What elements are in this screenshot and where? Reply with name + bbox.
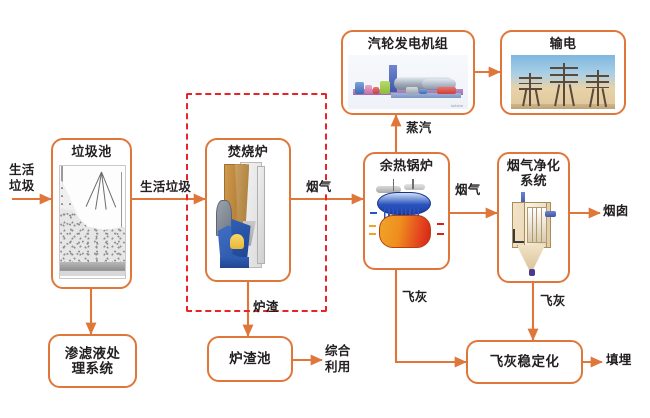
pylon-icon [550, 63, 577, 106]
node-gas-cleaning-system-label: 烟气净化 系统 [507, 159, 561, 188]
node-waste-pit[interactable]: 垃圾池 [51, 138, 132, 289]
label-flue-gas-2: 烟气 [455, 183, 481, 197]
node-leachate-treatment-label: 渗滤液处 理系统 [65, 346, 121, 376]
boiler-illustration [365, 174, 448, 268]
turbine-illustration: turbine [343, 52, 473, 113]
gas-cleaning-illustration [499, 188, 568, 281]
node-incinerator[interactable]: 焚烧炉 [205, 138, 291, 282]
node-flyash-stabilization-label: 飞灰稳定化 [490, 354, 560, 369]
node-gas-cleaning-system[interactable]: 烟气净化 系统 [497, 152, 570, 283]
pylon-icon [586, 70, 609, 106]
pylon-icon [519, 73, 542, 107]
label-stack: 烟囱 [603, 204, 629, 218]
label-inlet-msw: 生活 垃圾 [9, 163, 35, 194]
node-slag-pool-label: 炉渣池 [229, 351, 271, 366]
label-steam: 蒸汽 [406, 121, 432, 135]
transmission-illustration [502, 52, 624, 113]
node-incinerator-label: 焚烧炉 [228, 145, 268, 160]
label-flyash-1: 飞灰 [402, 290, 428, 304]
waste-pit-illustration [53, 160, 130, 287]
label-flyash-2: 飞灰 [540, 294, 566, 308]
grab-crane-icon [94, 172, 108, 210]
label-reuse: 综合 利用 [325, 344, 351, 375]
node-power-transmission-label: 输电 [550, 37, 577, 52]
node-steam-turbine-generator[interactable]: 汽轮发电机组 turbine [341, 30, 475, 115]
incinerator-illustration [207, 160, 289, 280]
label-landfill: 填埋 [606, 353, 632, 367]
node-power-transmission[interactable]: 输电 [500, 30, 626, 115]
label-msw-to-furnace: 生活垃圾 [139, 180, 192, 194]
wire-boiler-flyash-to-stabilization [396, 270, 466, 362]
node-flyash-stabilization[interactable]: 飞灰稳定化 [466, 340, 583, 384]
node-steam-turbine-generator-label: 汽轮发电机组 [368, 37, 448, 52]
process-flow-diagram: 垃圾池 渗滤液处 理系统 焚烧炉 [0, 0, 650, 418]
node-waste-heat-boiler-label: 余热锅炉 [380, 159, 434, 174]
node-leachate-treatment[interactable]: 渗滤液处 理系统 [48, 334, 137, 388]
label-flue-gas-1: 烟气 [305, 180, 333, 194]
label-slag: 炉渣 [253, 300, 279, 314]
node-waste-heat-boiler[interactable]: 余热锅炉 [363, 152, 450, 270]
node-waste-pit-label: 垃圾池 [71, 145, 111, 160]
node-slag-pool[interactable]: 炉渣池 [207, 336, 293, 382]
